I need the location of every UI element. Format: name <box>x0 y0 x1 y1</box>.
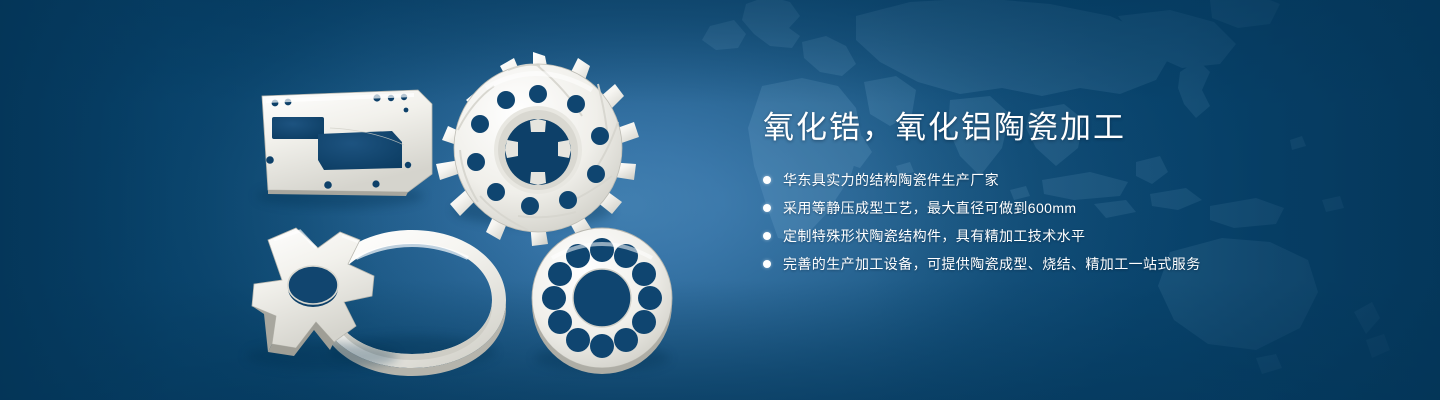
list-item: 定制特殊形状陶瓷结构件，具有精加工技术水平 <box>763 226 1323 246</box>
hero-banner: 氧化锆，氧化铝陶瓷加工 华东具实力的结构陶瓷件生产厂家 采用等静压成型工艺，最大… <box>0 0 1440 400</box>
bullet-dot-icon <box>763 232 771 240</box>
page-title: 氧化锆，氧化铝陶瓷加工 <box>763 108 1323 148</box>
bullet-dot-icon <box>763 176 771 184</box>
feature-text: 定制特殊形状陶瓷结构件，具有精加工技术水平 <box>783 226 1085 246</box>
feature-list: 华东具实力的结构陶瓷件生产厂家 采用等静压成型工艺，最大直径可做到600mm 定… <box>763 170 1323 274</box>
list-item: 采用等静压成型工艺，最大直径可做到600mm <box>763 198 1323 218</box>
ceramic-products-photo <box>0 0 720 400</box>
feature-text: 完善的生产加工设备，可提供陶瓷成型、烧结、精加工一站式服务 <box>783 254 1201 274</box>
list-item: 华东具实力的结构陶瓷件生产厂家 <box>763 170 1323 190</box>
ceramic-hole-ring <box>532 228 672 374</box>
ceramic-flat-plate <box>256 90 432 208</box>
feature-text: 采用等静压成型工艺，最大直径可做到600mm <box>783 198 1076 218</box>
bullet-dot-icon <box>763 260 771 268</box>
ceramic-impeller <box>436 52 639 246</box>
feature-text: 华东具实力的结构陶瓷件生产厂家 <box>783 170 999 190</box>
banner-copy: 氧化锆，氧化铝陶瓷加工 华东具实力的结构陶瓷件生产厂家 采用等静压成型工艺，最大… <box>763 108 1323 274</box>
bullet-dot-icon <box>763 204 771 212</box>
list-item: 完善的生产加工设备，可提供陶瓷成型、烧结、精加工一站式服务 <box>763 254 1323 274</box>
